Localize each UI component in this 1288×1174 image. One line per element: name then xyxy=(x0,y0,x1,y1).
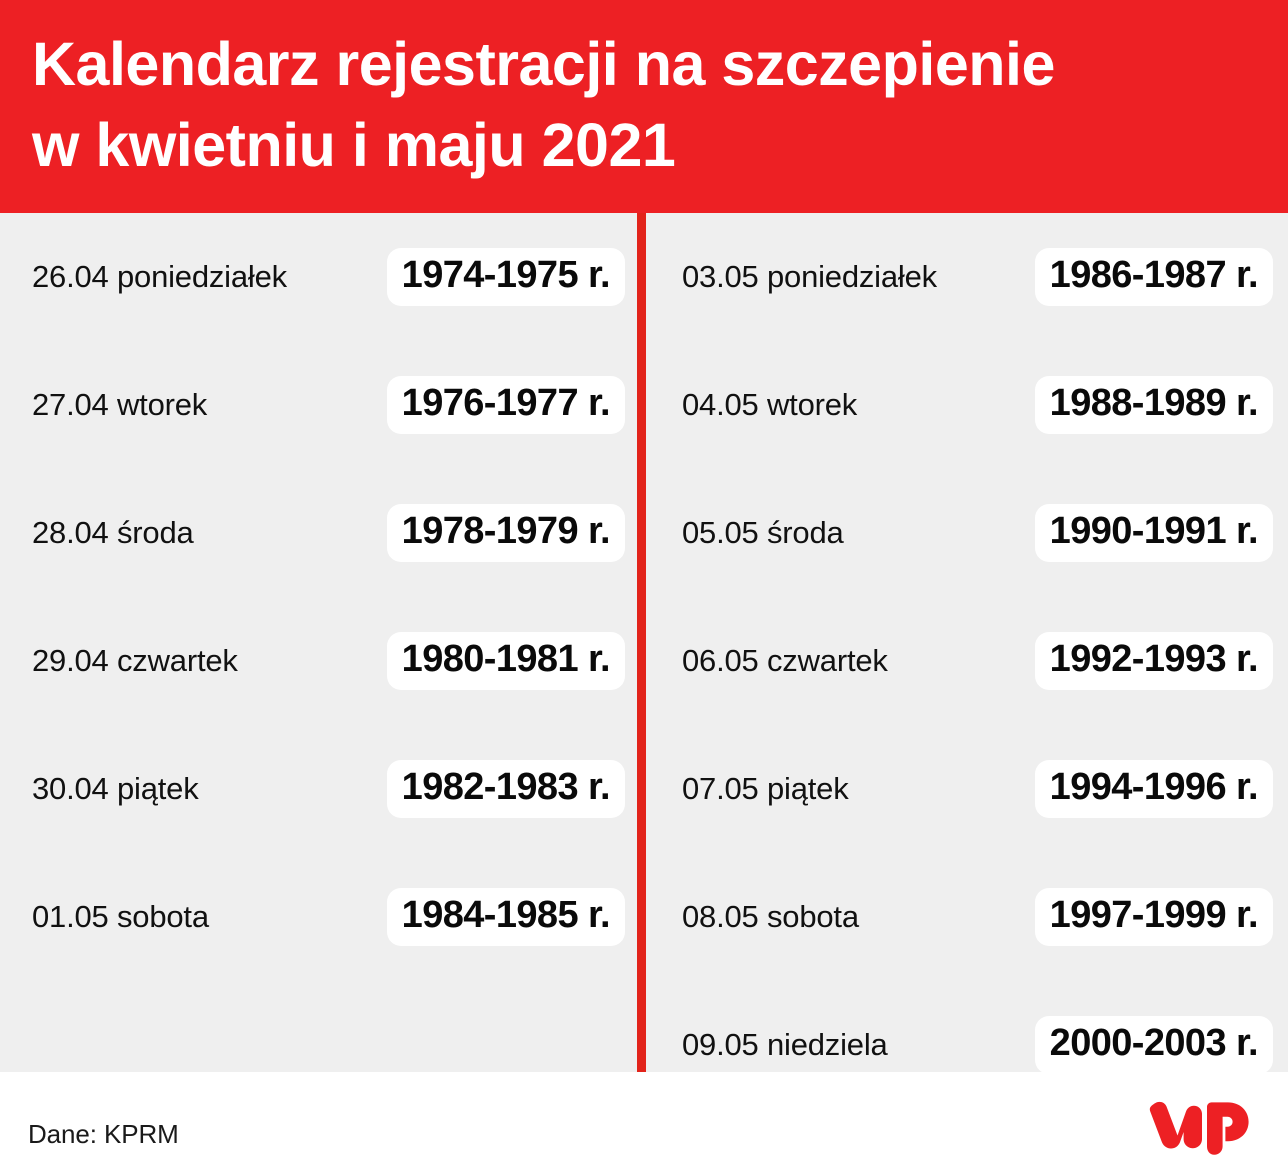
row-day-label: 29.04 czwartek xyxy=(32,643,238,679)
header-banner: Kalendarz rejestracji na szczepienie w k… xyxy=(0,0,1288,213)
schedule-column-left: 26.04 poniedziałek1974-1975 r.27.04 wtor… xyxy=(0,213,637,981)
schedule-row: 26.04 poniedziałek1974-1975 r. xyxy=(32,213,625,341)
row-years-chip: 2000-2003 r. xyxy=(1035,1016,1273,1074)
row-day-label: 30.04 piątek xyxy=(32,771,199,807)
row-years-chip: 1980-1981 r. xyxy=(387,632,625,690)
row-day-label: 08.05 sobota xyxy=(682,899,859,935)
row-years-chip: 1974-1975 r. xyxy=(387,248,625,306)
schedule-column-right: 03.05 poniedziałek1986-1987 r.04.05 wtor… xyxy=(646,213,1288,1109)
schedule-row: 28.04 środa1978-1979 r. xyxy=(32,469,625,597)
row-years-chip: 1984-1985 r. xyxy=(387,888,625,946)
schedule-row: 04.05 wtorek1988-1989 r. xyxy=(682,341,1273,469)
schedule-row: 30.04 piątek1982-1983 r. xyxy=(32,725,625,853)
row-years-chip: 1978-1979 r. xyxy=(387,504,625,562)
row-day-label: 27.04 wtorek xyxy=(32,387,207,423)
source-label: Dane: KPRM xyxy=(28,1119,179,1150)
row-years-chip: 1986-1987 r. xyxy=(1035,248,1273,306)
row-day-label: 26.04 poniedziałek xyxy=(32,259,287,295)
row-day-label: 06.05 czwartek xyxy=(682,643,888,679)
row-years-chip: 1976-1977 r. xyxy=(387,376,625,434)
row-years-chip: 1990-1991 r. xyxy=(1035,504,1273,562)
footer-bar: Dane: KPRM xyxy=(0,1072,1288,1174)
row-years-chip: 1994-1996 r. xyxy=(1035,760,1273,818)
row-day-label: 04.05 wtorek xyxy=(682,387,857,423)
row-day-label: 09.05 niedziela xyxy=(682,1027,888,1063)
schedule-row: 06.05 czwartek1992-1993 r. xyxy=(682,597,1273,725)
row-day-label: 28.04 środa xyxy=(32,515,194,551)
infographic-root: Kalendarz rejestracji na szczepienie w k… xyxy=(0,0,1288,1174)
schedule-row: 03.05 poniedziałek1986-1987 r. xyxy=(682,213,1273,341)
schedule-row: 27.04 wtorek1976-1977 r. xyxy=(32,341,625,469)
row-day-label: 05.05 środa xyxy=(682,515,844,551)
schedule-row: 29.04 czwartek1980-1981 r. xyxy=(32,597,625,725)
row-day-label: 07.05 piątek xyxy=(682,771,849,807)
column-divider xyxy=(637,213,646,1072)
row-day-label: 01.05 sobota xyxy=(32,899,209,935)
schedule-row: 01.05 sobota1984-1985 r. xyxy=(32,853,625,981)
row-years-chip: 1997-1999 r. xyxy=(1035,888,1273,946)
row-years-chip: 1988-1989 r. xyxy=(1035,376,1273,434)
row-years-chip: 1992-1993 r. xyxy=(1035,632,1273,690)
wp-logo-icon xyxy=(1144,1092,1268,1156)
schedule-row: 08.05 sobota1997-1999 r. xyxy=(682,853,1273,981)
row-years-chip: 1982-1983 r. xyxy=(387,760,625,818)
row-day-label: 03.05 poniedziałek xyxy=(682,259,937,295)
schedule-row: 07.05 piątek1994-1996 r. xyxy=(682,725,1273,853)
schedule-row: 05.05 środa1990-1991 r. xyxy=(682,469,1273,597)
page-title: Kalendarz rejestracji na szczepienie w k… xyxy=(32,24,1248,185)
